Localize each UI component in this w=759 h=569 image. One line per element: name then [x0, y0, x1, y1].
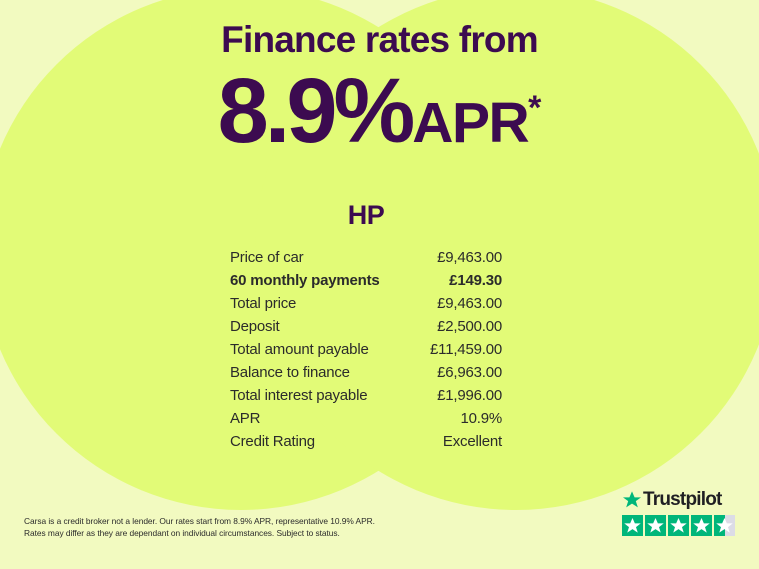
rating-star-icon [645, 515, 666, 536]
table-row: Total amount payable £11,459.00 [230, 338, 502, 361]
row-value: 10.9% [460, 407, 502, 430]
row-label: 60 monthly payments [230, 269, 380, 292]
disclaimer-line-1: Carsa is a credit broker not a lender. O… [24, 515, 444, 527]
row-value: £9,463.00 [437, 246, 502, 269]
row-value: £2,500.00 [437, 315, 502, 338]
trustpilot-rating-stars [622, 515, 736, 536]
finance-product-heading: HP [230, 200, 502, 230]
row-label: Balance to finance [230, 361, 350, 384]
table-row: 60 monthly payments £149.30 [230, 269, 502, 292]
row-label: Credit Rating [230, 430, 315, 453]
row-label: Price of car [230, 246, 303, 269]
table-row: Deposit £2,500.00 [230, 315, 502, 338]
trustpilot-name: Trustpilot [643, 490, 722, 510]
table-row: Total interest payable £1,996.00 [230, 384, 502, 407]
rating-star-half-icon [714, 515, 735, 536]
headline-block: Finance rates from 8.9% APR * [0, 0, 759, 159]
row-value: Excellent [443, 430, 502, 453]
star-icon [622, 490, 642, 510]
table-row: Balance to finance £6,963.00 [230, 361, 502, 384]
trustpilot-logo: Trustpilot [622, 489, 736, 536]
finance-table: HP Price of car £9,463.00 60 monthly pay… [230, 200, 502, 453]
promo-banner: Finance rates from 8.9% APR * HP Price o… [0, 0, 759, 569]
rate-value: 8.9% [218, 63, 412, 159]
disclaimer-text: Carsa is a credit broker not a lender. O… [24, 515, 444, 539]
row-value: £1,996.00 [437, 384, 502, 407]
rating-star-icon [622, 515, 643, 536]
rating-star-icon [668, 515, 689, 536]
page-title: Finance rates from [0, 0, 759, 61]
row-label: Deposit [230, 315, 279, 338]
rate-line: 8.9% APR * [0, 63, 759, 159]
row-label: Total amount payable [230, 338, 369, 361]
table-row: APR 10.9% [230, 407, 502, 430]
rating-star-icon [691, 515, 712, 536]
trustpilot-wordmark: Trustpilot [622, 489, 736, 511]
disclaimer-line-2: Rates may differ as they are dependant o… [24, 527, 444, 539]
table-row: Credit Rating Excellent [230, 430, 502, 453]
row-label: Total price [230, 292, 296, 315]
row-value: £6,963.00 [437, 361, 502, 384]
row-label: APR [230, 407, 260, 430]
row-value: £149.30 [449, 269, 502, 292]
row-label: Total interest payable [230, 384, 367, 407]
row-value: £9,463.00 [437, 292, 502, 315]
table-row: Total price £9,463.00 [230, 292, 502, 315]
rate-asterisk: * [528, 91, 541, 125]
row-value: £11,459.00 [430, 338, 502, 361]
rate-unit: APR [412, 93, 528, 153]
table-row: Price of car £9,463.00 [230, 246, 502, 269]
